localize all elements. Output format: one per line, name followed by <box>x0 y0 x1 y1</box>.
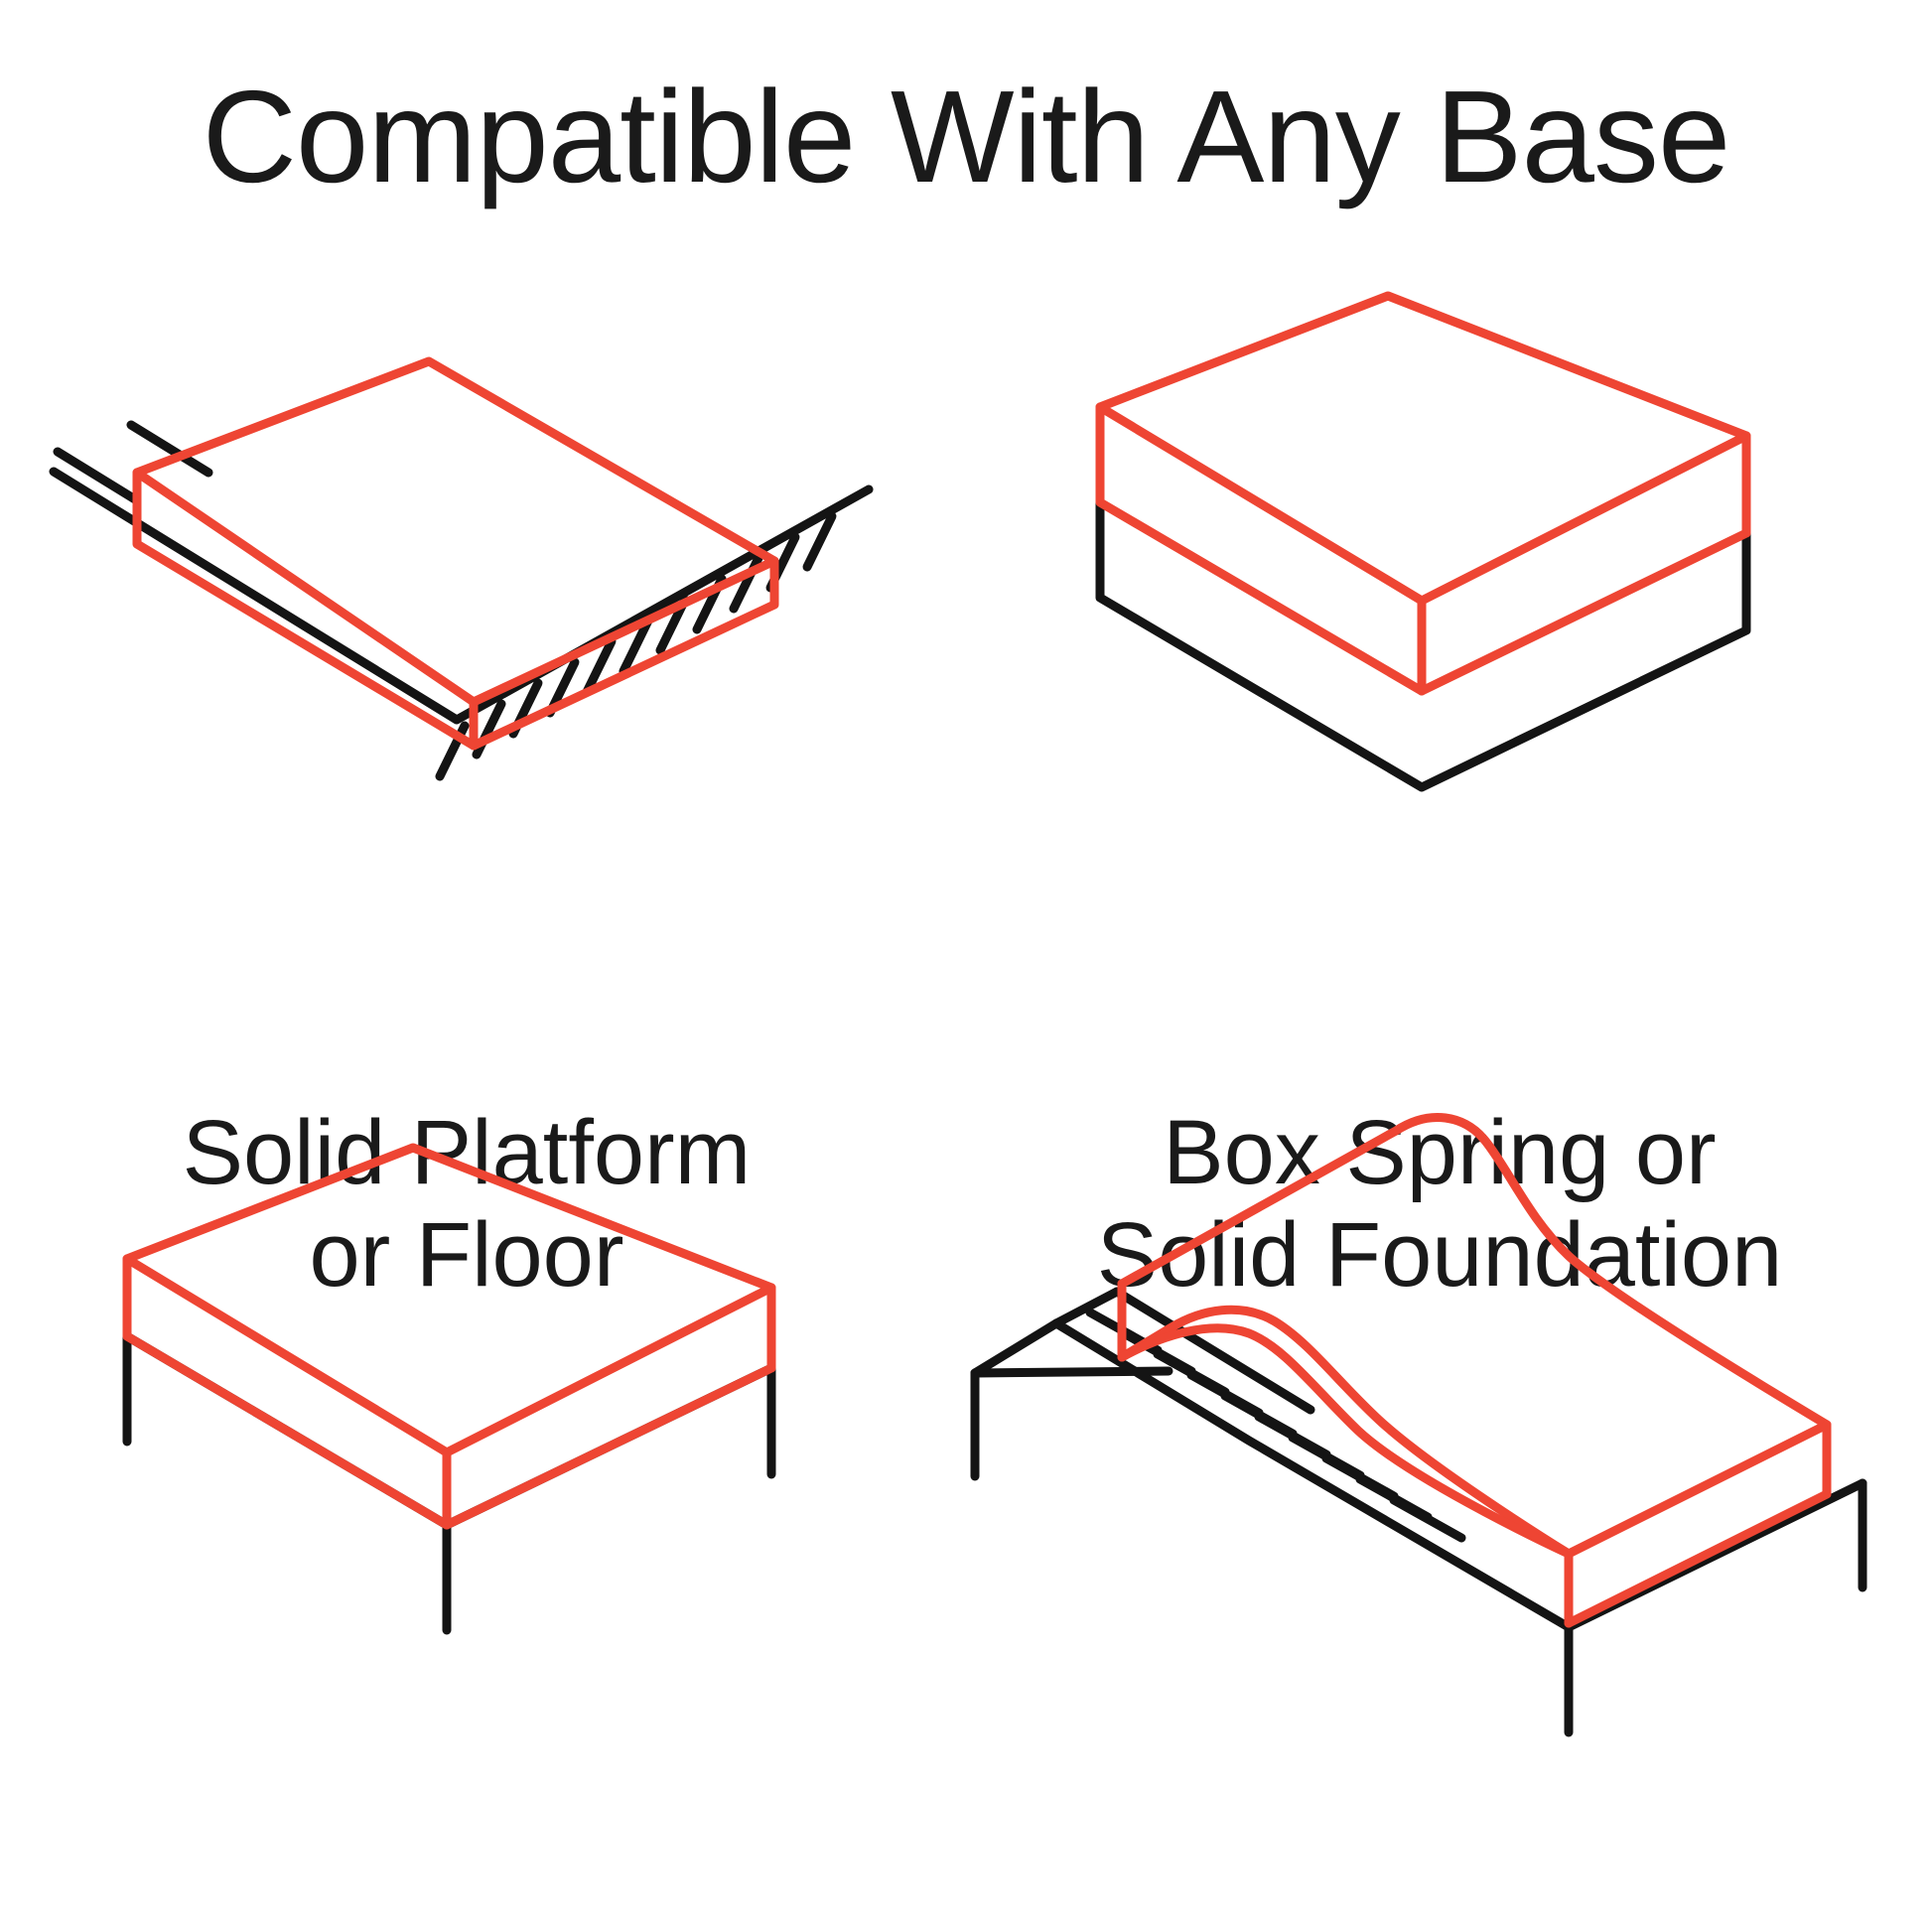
figure-adjustable-base <box>1013 1206 1866 1633</box>
panel-slatted-base: Slatted Base <box>40 1231 894 1932</box>
figure-box-spring <box>1013 377 1866 804</box>
page-title: Compatible With Any Base <box>0 71 1932 203</box>
label-slatted-base: Slatted Base <box>40 1926 894 1932</box>
label-line-1: Slatted Base <box>207 1926 726 1932</box>
label-line-1: Solid Platform <box>183 1102 752 1203</box>
label-line-1: Adjustable Base <box>1110 1926 1770 1932</box>
mattress-icon <box>1100 296 1746 691</box>
adjustable-base-frame-icon <box>975 1292 1863 1732</box>
figure-solid-platform <box>40 377 894 804</box>
solid-platform-floor-icon <box>54 425 869 776</box>
infographic-canvas: Compatible With Any Base <box>0 0 1932 1932</box>
panel-box-spring: Box Spring or Solid Foundation <box>1013 377 1866 1307</box>
mattress-icon <box>137 361 774 746</box>
label-adjustable-base: Adjustable Base <box>1013 1926 1866 1932</box>
figure-slatted-base <box>40 1231 894 1658</box>
panel-adjustable-base: Adjustable Base <box>1013 1206 1866 1932</box>
